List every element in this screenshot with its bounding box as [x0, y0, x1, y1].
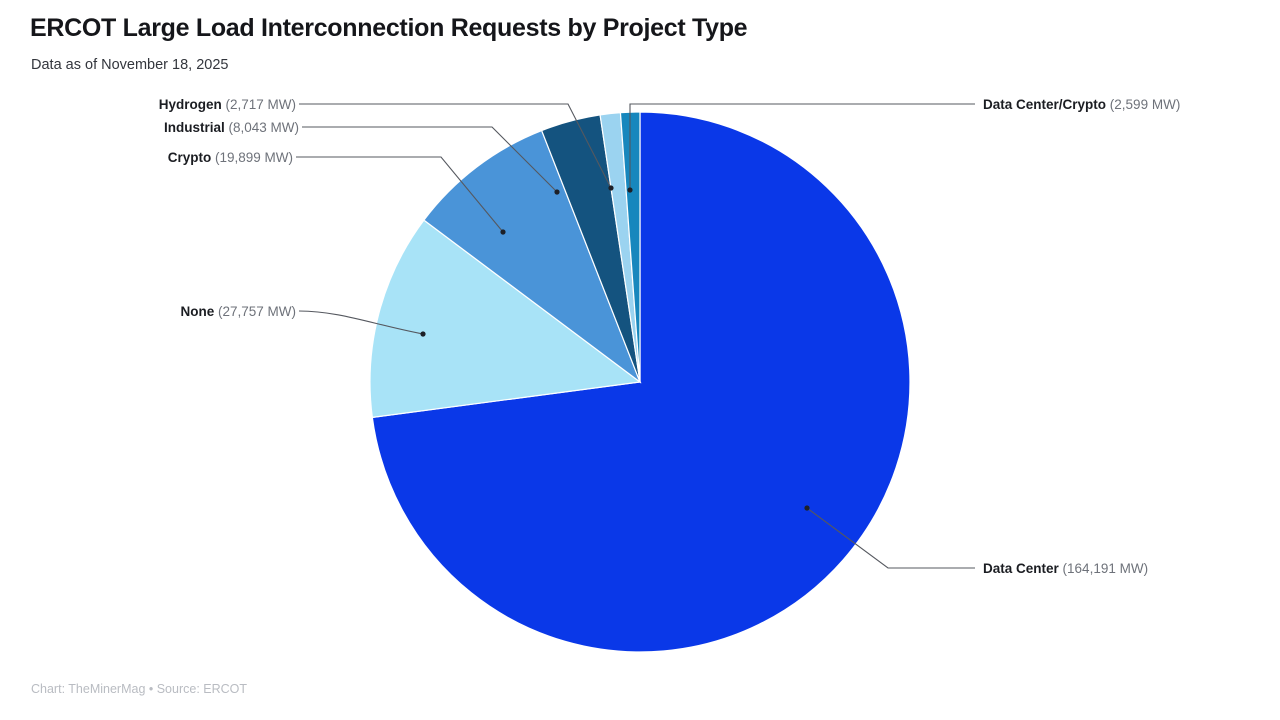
callout-crypto-name: Crypto	[168, 150, 212, 165]
callout-data-center-value: (164,191 MW)	[1063, 561, 1149, 576]
callout-data-center-crypto: Data Center/Crypto (2,599 MW)	[983, 98, 1180, 112]
callout-crypto: Crypto (19,899 MW)	[0, 151, 293, 165]
leader-dot-hydrogen	[608, 185, 613, 190]
leader-dot-crypto	[500, 229, 505, 234]
callout-hydrogen-value: (2,717 MW)	[225, 97, 296, 112]
leader-dot-data-center	[804, 505, 809, 510]
callout-none-name: None	[180, 304, 214, 319]
callout-none-value: (27,757 MW)	[218, 304, 296, 319]
callout-data-center-crypto-value: (2,599 MW)	[1110, 97, 1181, 112]
chart-container: ERCOT Large Load Interconnection Request…	[0, 0, 1280, 720]
leader-dot-industrial	[554, 189, 559, 194]
pie-slices-group	[370, 112, 910, 652]
callout-hydrogen-name: Hydrogen	[159, 97, 222, 112]
callout-data-center: Data Center (164,191 MW)	[983, 562, 1148, 576]
callout-data-center-crypto-name: Data Center/Crypto	[983, 97, 1106, 112]
callout-industrial: Industrial (8,043 MW)	[0, 121, 299, 135]
leader-dot-data-center-crypto	[627, 187, 632, 192]
callout-industrial-name: Industrial	[164, 120, 225, 135]
callout-crypto-value: (19,899 MW)	[215, 150, 293, 165]
chart-credit: Chart: TheMinerMag • Source: ERCOT	[31, 682, 247, 696]
callout-hydrogen: Hydrogen (2,717 MW)	[0, 98, 296, 112]
callout-industrial-value: (8,043 MW)	[228, 120, 299, 135]
callout-none: None (27,757 MW)	[0, 305, 296, 319]
leader-dot-none	[420, 331, 425, 336]
callout-data-center-name: Data Center	[983, 561, 1059, 576]
